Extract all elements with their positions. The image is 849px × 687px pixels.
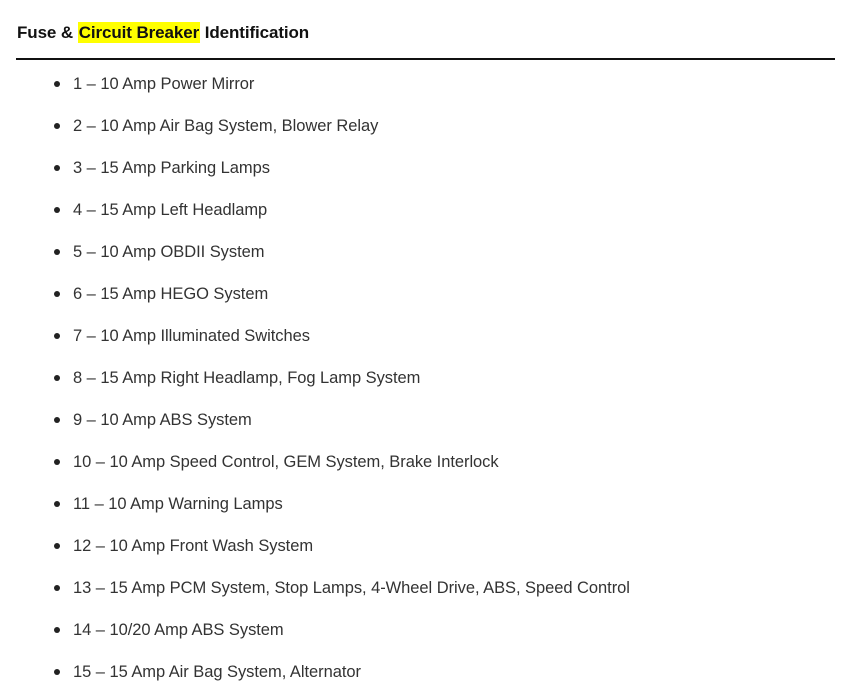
- list-item-label: 12 – 10 Amp Front Wash System: [73, 537, 313, 555]
- list-item-label: 5 – 10 Amp OBDII System: [73, 243, 264, 261]
- page-title-suffix: Identification: [200, 23, 309, 42]
- list-item: 2 – 10 Amp Air Bag System, Blower Relay: [0, 116, 849, 136]
- disc-bullet-icon: [54, 375, 60, 381]
- disc-bullet-icon: [54, 207, 60, 213]
- disc-bullet-icon: [54, 669, 60, 675]
- list-item-label: 1 – 10 Amp Power Mirror: [73, 75, 254, 93]
- list-item: 1 – 10 Amp Power Mirror: [0, 74, 849, 94]
- disc-bullet-icon: [54, 165, 60, 171]
- list-item-label: 13 – 15 Amp PCM System, Stop Lamps, 4-Wh…: [73, 579, 630, 597]
- list-item-label: 6 – 15 Amp HEGO System: [73, 285, 268, 303]
- disc-bullet-icon: [54, 501, 60, 507]
- page-title-prefix: Fuse &: [17, 23, 78, 42]
- list-item-label: 4 – 15 Amp Left Headlamp: [73, 201, 267, 219]
- list-item-label: 14 – 10/20 Amp ABS System: [73, 621, 284, 639]
- disc-bullet-icon: [54, 627, 60, 633]
- list-item-label: 9 – 10 Amp ABS System: [73, 411, 252, 429]
- list-item: 15 – 15 Amp Air Bag System, Alternator: [0, 662, 849, 682]
- list-item-label: 3 – 15 Amp Parking Lamps: [73, 159, 270, 177]
- list-item: 12 – 10 Amp Front Wash System: [0, 536, 849, 556]
- list-item: 13 – 15 Amp PCM System, Stop Lamps, 4-Wh…: [0, 578, 849, 598]
- disc-bullet-icon: [54, 291, 60, 297]
- page-title: Fuse & Circuit Breaker Identification: [0, 14, 849, 44]
- list-item-label: 2 – 10 Amp Air Bag System, Blower Relay: [73, 117, 378, 135]
- fuse-list: 1 – 10 Amp Power Mirror 2 – 10 Amp Air B…: [0, 60, 849, 682]
- list-item-label: 11 – 10 Amp Warning Lamps: [73, 495, 283, 513]
- list-item: 5 – 10 Amp OBDII System: [0, 242, 849, 262]
- list-item: 3 – 15 Amp Parking Lamps: [0, 158, 849, 178]
- list-item-label: 7 – 10 Amp Illuminated Switches: [73, 327, 310, 345]
- list-item: 8 – 15 Amp Right Headlamp, Fog Lamp Syst…: [0, 368, 849, 388]
- list-item: 11 – 10 Amp Warning Lamps: [0, 494, 849, 514]
- disc-bullet-icon: [54, 333, 60, 339]
- list-item: 14 – 10/20 Amp ABS System: [0, 620, 849, 640]
- list-item: 10 – 10 Amp Speed Control, GEM System, B…: [0, 452, 849, 472]
- list-item: 7 – 10 Amp Illuminated Switches: [0, 326, 849, 346]
- list-item-label: 15 – 15 Amp Air Bag System, Alternator: [73, 663, 361, 681]
- list-item: 6 – 15 Amp HEGO System: [0, 284, 849, 304]
- list-item-label: 8 – 15 Amp Right Headlamp, Fog Lamp Syst…: [73, 369, 420, 387]
- list-item: 4 – 15 Amp Left Headlamp: [0, 200, 849, 220]
- disc-bullet-icon: [54, 543, 60, 549]
- disc-bullet-icon: [54, 417, 60, 423]
- disc-bullet-icon: [54, 459, 60, 465]
- page-title-highlight: Circuit Breaker: [78, 22, 200, 43]
- disc-bullet-icon: [54, 585, 60, 591]
- fuse-identification-page: Fuse & Circuit Breaker Identification 1 …: [0, 14, 849, 687]
- list-item-label: 10 – 10 Amp Speed Control, GEM System, B…: [73, 453, 499, 471]
- list-item: 9 – 10 Amp ABS System: [0, 410, 849, 430]
- disc-bullet-icon: [54, 81, 60, 87]
- disc-bullet-icon: [54, 249, 60, 255]
- disc-bullet-icon: [54, 123, 60, 129]
